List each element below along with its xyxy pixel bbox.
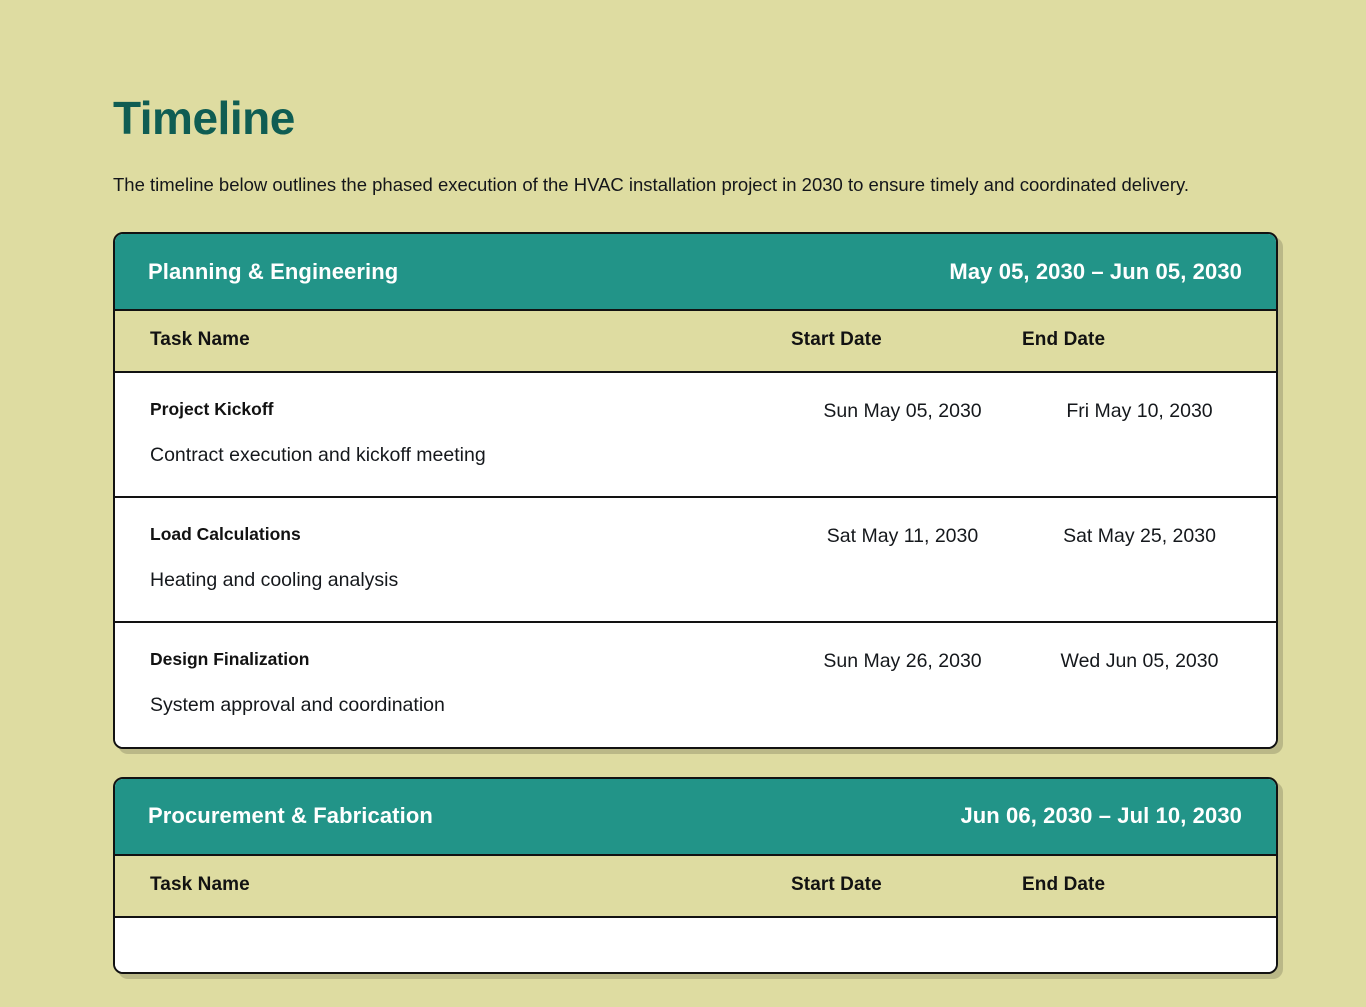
task-name: Load Calculations: [150, 524, 774, 546]
task-description: Heating and cooling analysis: [150, 546, 774, 593]
phase-header: Procurement & Fabrication Jun 06, 2030 –…: [115, 779, 1276, 856]
page-subtitle: The timeline below outlines the phased e…: [113, 145, 1221, 199]
task-cell: Design Finalization System approval and …: [115, 622, 788, 746]
task-table-head: Task Name Start Date End Date: [115, 856, 1276, 917]
table-row[interactable]: Load Calculations Heating and cooling an…: [115, 497, 1276, 622]
page-title: Timeline: [113, 0, 1278, 145]
phase-card: Procurement & Fabrication Jun 06, 2030 –…: [113, 777, 1278, 974]
task-description: System approval and coordination: [150, 671, 774, 718]
task-start-date: Sun May 26, 2030: [788, 622, 1020, 746]
task-table: Task Name Start Date End Date: [115, 856, 1276, 972]
task-table-header-row: Task Name Start Date End Date: [115, 856, 1276, 917]
phase-name: Planning & Engineering: [148, 259, 398, 285]
task-start-date: Sat May 11, 2030: [788, 497, 1020, 622]
task-start-date: [788, 917, 1020, 972]
task-cell: Load Calculations Heating and cooling an…: [115, 497, 788, 622]
column-header-task-name: Task Name: [115, 856, 788, 917]
phase-card-list: Planning & Engineering May 05, 2030 – Ju…: [113, 232, 1278, 974]
table-row[interactable]: [115, 917, 1276, 972]
task-description: Contract execution and kickoff meeting: [150, 421, 774, 468]
task-table-header-row: Task Name Start Date End Date: [115, 311, 1276, 372]
task-start-date: Sun May 05, 2030: [788, 372, 1020, 497]
phase-card: Planning & Engineering May 05, 2030 – Ju…: [113, 232, 1278, 749]
task-cell: [115, 917, 788, 972]
column-header-start-date: Start Date: [788, 856, 1020, 917]
table-row[interactable]: Project Kickoff Contract execution and k…: [115, 372, 1276, 497]
task-table-head: Task Name Start Date End Date: [115, 311, 1276, 372]
page-content: Timeline The timeline below outlines the…: [113, 0, 1278, 974]
column-header-start-date: Start Date: [788, 311, 1020, 372]
task-end-date: Fri May 10, 2030: [1020, 372, 1276, 497]
phase-name: Procurement & Fabrication: [148, 803, 433, 829]
phase-date-range: May 05, 2030 – Jun 05, 2030: [949, 259, 1242, 285]
column-header-end-date: End Date: [1020, 311, 1276, 372]
phase-date-range: Jun 06, 2030 – Jul 10, 2030: [960, 803, 1242, 829]
column-header-end-date: End Date: [1020, 856, 1276, 917]
timeline-page: Timeline The timeline below outlines the…: [0, 0, 1366, 1007]
task-table-body: [115, 917, 1276, 972]
table-row[interactable]: Design Finalization System approval and …: [115, 622, 1276, 746]
task-name: Project Kickoff: [150, 399, 774, 421]
task-end-date: Wed Jun 05, 2030: [1020, 622, 1276, 746]
column-header-task-name: Task Name: [115, 311, 788, 372]
task-cell: Project Kickoff Contract execution and k…: [115, 372, 788, 497]
phase-header: Planning & Engineering May 05, 2030 – Ju…: [115, 234, 1276, 311]
task-name: Design Finalization: [150, 649, 774, 671]
task-table: Task Name Start Date End Date Project Ki…: [115, 311, 1276, 747]
task-end-date: Sat May 25, 2030: [1020, 497, 1276, 622]
task-table-body: Project Kickoff Contract execution and k…: [115, 372, 1276, 747]
task-end-date: [1020, 917, 1276, 972]
